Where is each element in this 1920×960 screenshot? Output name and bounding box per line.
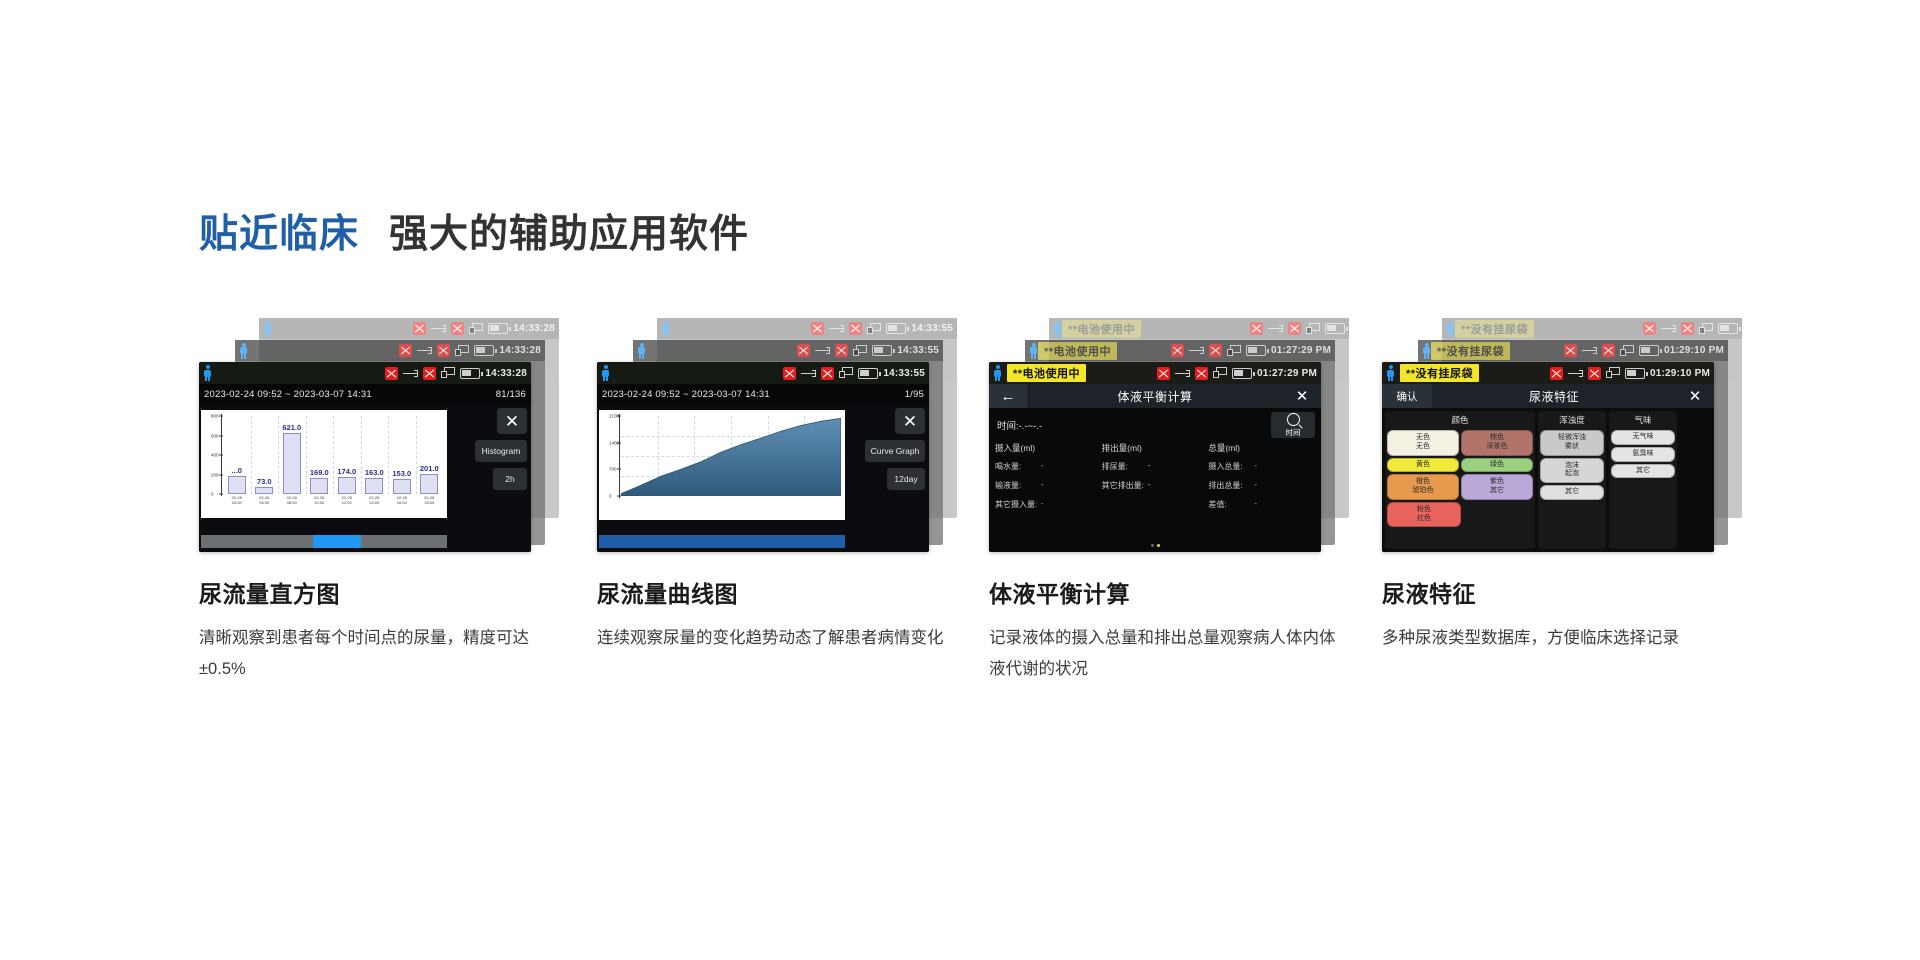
time-field[interactable]: 时间:-.-~-.-	[995, 413, 1271, 437]
host-icon	[853, 345, 867, 357]
grid-line-v	[416, 416, 418, 494]
ghost-statusbar: **电池使用中	[1049, 318, 1349, 339]
card-caption-body: 记录液体的摄入总量和排出总量观察病人体内体液代谢的状况	[989, 623, 1339, 684]
network-off-icon	[783, 367, 796, 380]
y-axis-tick: 400	[211, 453, 219, 458]
device-screen-fluid-balance: **电池使用中 01:27:29 PM ← 体液平	[989, 362, 1321, 552]
battery-banner: **没有挂尿袋	[1400, 364, 1479, 382]
urine-characteristic-group-header: 气味	[1611, 413, 1675, 428]
wifi-off-icon	[1209, 344, 1222, 357]
urine-characteristic-group: 颜色无色无色棕色深茶色黄色绿色橙色琥珀色紫色其它粉色红色	[1385, 411, 1535, 549]
spacer	[1463, 502, 1533, 528]
x-axis-tick: 02-2812:00	[342, 496, 352, 505]
fluid-balance-row[interactable]: 摄入总量:-	[1208, 461, 1315, 472]
usb-icon	[417, 346, 432, 356]
patient-icon	[1386, 365, 1395, 381]
fluid-balance-row[interactable]: 其它排出量:-	[1102, 480, 1209, 491]
card-caption-body: 连续观察尿量的变化趋势动态了解患者病情变化	[597, 623, 947, 654]
x-axis-tick: 02-2814:00	[369, 496, 379, 505]
patient-icon	[1029, 343, 1038, 359]
x-axis-tick: 02-2810:00	[314, 496, 324, 505]
fluid-balance-row-label: 排出总量:	[1208, 480, 1254, 491]
x-axis-tick: 02-2818:00	[424, 496, 434, 505]
urine-characteristic-group-header: 颜色	[1387, 413, 1533, 428]
grid-line-v	[251, 416, 253, 494]
page-dot-active[interactable]	[1157, 544, 1160, 547]
network-off-icon	[1550, 367, 1563, 380]
status-bar: **电池使用中 01:27:29 PM	[989, 362, 1321, 384]
histogram-bar[interactable]	[228, 476, 246, 494]
urine-characteristic-row: 无色无色棕色深茶色	[1387, 430, 1533, 456]
curve-plot-canvas: 210014007000	[599, 410, 845, 520]
date-range-row: 2023-02-24 09:52 ~ 2023-03-07 14:31 81/1…	[199, 384, 531, 404]
host-icon	[441, 367, 455, 379]
fluid-balance-row-value: -	[1041, 461, 1044, 472]
network-off-icon	[811, 322, 824, 335]
page-dot[interactable]	[1151, 544, 1154, 547]
urine-characteristic-row: 其它	[1611, 464, 1675, 479]
battery-icon	[474, 345, 494, 356]
ghost-statusbar: 14:33:28	[235, 340, 545, 361]
histogram-bar[interactable]	[255, 487, 273, 494]
grid-line-v	[306, 416, 308, 494]
battery-icon	[858, 368, 878, 379]
histogram-bar[interactable]	[310, 478, 328, 494]
histogram-plot-canvas: ...002-2804:3073.002-2806:30621.002-2808…	[201, 410, 447, 518]
histogram-bar-label: 73.0	[257, 477, 272, 486]
urine-characteristic-row: 氨臭味	[1611, 447, 1675, 462]
histogram-bar[interactable]	[338, 477, 356, 494]
battery-icon	[1625, 368, 1645, 379]
search-icon	[1287, 413, 1300, 426]
fluid-balance-row-value: -	[1041, 480, 1044, 491]
feature-card-urine-characteristics: **没有挂尿袋 **没有挂尿袋	[1382, 318, 1782, 654]
card-caption-title: 尿流量曲线图	[597, 575, 997, 609]
urine-characteristic-option[interactable]: 棕色深茶色	[1461, 430, 1533, 456]
y-axis-tick-mark	[219, 455, 223, 456]
usb-icon	[1175, 368, 1190, 378]
page-root: 贴近临床强大的辅助应用软件 14:33:28	[0, 0, 1920, 960]
urine-characteristic-row: 轻微浑浊雾状	[1540, 430, 1604, 456]
fluid-balance-row-value: -	[1254, 499, 1257, 510]
urine-characteristic-row: 粉色红色	[1387, 502, 1533, 528]
device-stack: **没有挂尿袋 **没有挂尿袋	[1382, 318, 1742, 553]
battery-icon	[1232, 368, 1252, 379]
status-time: 14:33:28	[485, 368, 527, 379]
x-axis-tick: 02-2804:30	[232, 496, 242, 505]
device-stack: 14:33:55 14:33:55	[597, 318, 957, 553]
histogram-bar-label: 201.0	[420, 464, 439, 473]
usb-icon	[801, 368, 816, 378]
feature-card-fluid-balance: **电池使用中 **电池使用中	[989, 318, 1389, 684]
fluid-balance-column: 摄入量(ml)喝水量:-输液量:-其它摄入量:-	[995, 442, 1102, 518]
y-axis-tick-mark	[219, 474, 223, 475]
host-icon	[1306, 323, 1320, 335]
urine-characteristic-option[interactable]: 其它	[1611, 464, 1675, 479]
fluid-balance-row-value: -	[1254, 480, 1257, 491]
y-axis	[619, 414, 620, 498]
fluid-balance-row-label: 其它摄入量:	[995, 499, 1041, 510]
histogram-bar-label: 621.0	[282, 423, 301, 432]
status-time: 01:29:10 PM	[1664, 345, 1724, 356]
status-time: 01:27:29 PM	[1271, 345, 1331, 356]
app-title: 尿液特征	[1432, 388, 1676, 405]
y-axis-tick: 800	[211, 414, 219, 419]
battery-banner: **电池使用中	[1038, 342, 1117, 360]
urine-characteristic-option[interactable]: 绿色	[1461, 458, 1533, 473]
usb-icon	[1582, 346, 1597, 356]
status-time: 14:33:55	[911, 323, 953, 334]
usb-icon	[815, 346, 830, 356]
y-axis-tick: 600	[211, 433, 219, 438]
battery-banner: **电池使用中	[1062, 320, 1141, 338]
x-axis-tick: 02-2816:00	[397, 496, 407, 505]
chart-side-buttons: ✕ Histogram 2h	[451, 404, 531, 552]
urine-characteristic-group: 浑浊度轻微浑浊雾状泡沫起泡其它	[1538, 411, 1606, 549]
y-axis-tick-mark	[617, 496, 621, 497]
y-axis-tick: 700	[609, 467, 617, 472]
urine-characteristic-row: 无气味	[1611, 430, 1675, 445]
y-axis-tick-mark	[617, 416, 621, 417]
fluid-balance-column-header: 摄入量(ml)	[995, 442, 1102, 454]
x-axis-tick: 02-2808:00	[287, 496, 297, 505]
wifi-off-icon	[423, 367, 436, 380]
histogram-bar[interactable]	[283, 433, 301, 494]
patient-icon	[661, 321, 670, 337]
y-axis-tick-mark	[219, 435, 223, 436]
page-title-rest: 强大的辅助应用软件	[389, 213, 749, 256]
close-button[interactable]: ✕	[1676, 387, 1714, 405]
close-button[interactable]: ✕	[497, 408, 527, 434]
page-dots	[989, 544, 1321, 547]
time-search-button[interactable]: 时间	[1271, 412, 1315, 438]
y-axis-tick: 200	[211, 472, 219, 477]
fluid-balance-grid: 摄入量(ml)喝水量:-输液量:-其它摄入量:-排出量(ml)排尿量:-其它排出…	[995, 442, 1315, 518]
fluid-balance-body: 时间:-.-~-.- 时间 摄入量(ml)喝水量:-输液量:-其它摄入量:-排出…	[989, 408, 1321, 552]
usb-icon	[1268, 324, 1283, 334]
network-off-icon	[797, 344, 810, 357]
device-screen-curve: 14:33:55 2023-02-24 09:52 ~ 2023-03-07 1…	[597, 362, 929, 552]
battery-icon	[886, 323, 906, 334]
fluid-balance-row-label: 喝水量:	[995, 461, 1041, 472]
curve-series	[621, 416, 841, 496]
wifi-off-icon	[1681, 322, 1694, 335]
host-icon	[1606, 367, 1620, 379]
urine-characteristic-option[interactable]: 粉色红色	[1387, 502, 1461, 528]
feature-card-urine-flow-curve: 14:33:55 14:33:55	[597, 318, 997, 654]
timeline-scrollbar[interactable]	[201, 535, 447, 548]
grid-line-v	[278, 416, 280, 494]
urine-characteristic-option[interactable]: 黄色	[1387, 458, 1459, 473]
wifi-off-icon	[451, 322, 464, 335]
time-span-button[interactable]: 2h	[493, 468, 527, 490]
fluid-balance-row-label: 输液量:	[995, 480, 1041, 491]
network-off-icon	[1171, 344, 1184, 357]
histogram-bar[interactable]	[393, 479, 411, 494]
wifi-off-icon	[821, 367, 834, 380]
device-screen-urine-characteristics: **没有挂尿袋 01:29:10 PM 确认 尿液	[1382, 362, 1714, 552]
fluid-balance-row[interactable]: 喝水量:-	[995, 461, 1102, 472]
fluid-balance-column: 排出量(ml)排尿量:-其它排出量:-	[1102, 442, 1209, 518]
status-bar: 14:33:28	[199, 362, 531, 384]
patient-icon	[1446, 321, 1455, 337]
urine-characteristic-option[interactable]: 泡沫起泡	[1540, 458, 1604, 484]
host-icon	[469, 323, 483, 335]
urine-characteristic-option[interactable]: 轻微浑浊雾状	[1540, 430, 1604, 456]
device-stack: **电池使用中 **电池使用中	[989, 318, 1349, 553]
curve-chart-area: 210014007000 ✕ Curve Graph 12day	[597, 404, 929, 552]
patient-icon	[1053, 321, 1062, 337]
fluid-balance-row[interactable]: 输液量:-	[995, 480, 1102, 491]
close-button[interactable]: ✕	[895, 408, 925, 434]
app-bar: ← 体液平衡计算 ✕	[989, 384, 1321, 408]
wifi-off-icon	[1588, 367, 1601, 380]
urine-characteristic-row: 橙色琥珀色紫色其它	[1387, 474, 1533, 500]
fluid-balance-row-value: -	[1148, 480, 1151, 491]
urine-characteristic-option[interactable]: 无色无色	[1387, 430, 1459, 456]
card-caption-body: 多种尿液类型数据库，方便临床选择记录	[1382, 623, 1732, 654]
wifi-off-icon	[1602, 344, 1615, 357]
grid-line-v	[333, 416, 335, 494]
network-off-icon	[1564, 344, 1577, 357]
urine-characteristic-option[interactable]: 其它	[1540, 485, 1604, 500]
chart-side-buttons: ✕ Curve Graph 12day	[849, 404, 929, 552]
ghost-statusbar: 14:33:55	[633, 340, 943, 361]
histogram-bar-label: 153.0	[392, 469, 411, 478]
fluid-balance-row[interactable]: 差值:-	[1208, 499, 1315, 510]
usb-icon	[1661, 324, 1676, 334]
usb-icon	[403, 368, 418, 378]
network-off-icon	[385, 367, 398, 380]
y-axis-tick: 0	[609, 494, 612, 499]
battery-icon	[1246, 345, 1266, 356]
fluid-balance-row-value: -	[1254, 461, 1257, 472]
wifi-off-icon	[437, 344, 450, 357]
wifi-off-icon	[835, 344, 848, 357]
y-axis-tick-mark	[219, 416, 223, 417]
battery-icon	[1325, 323, 1345, 334]
histogram-bar[interactable]	[365, 478, 383, 494]
x-axis-tick: 02-2806:30	[259, 496, 269, 505]
histogram-bar-label: 169.0	[310, 468, 329, 477]
date-range-label: 2023-02-24 09:52 ~ 2023-03-07 14:31	[602, 389, 770, 400]
network-off-icon	[1643, 322, 1656, 335]
battery-icon	[460, 368, 480, 379]
host-icon	[867, 323, 881, 335]
ghost-statusbar: **没有挂尿袋	[1442, 318, 1742, 339]
wifi-off-icon	[1195, 367, 1208, 380]
battery-icon	[872, 345, 892, 356]
ghost-statusbar: **没有挂尿袋 01:29:10 PM	[1418, 340, 1728, 361]
usb-icon	[1189, 346, 1204, 356]
patient-icon	[1422, 343, 1431, 359]
time-filter-row: 时间:-.-~-.- 时间	[995, 412, 1315, 438]
battery-icon	[1718, 323, 1738, 334]
patient-icon	[263, 321, 272, 337]
battery-icon	[1639, 345, 1659, 356]
device-stack: 14:33:28 14:33:28	[199, 318, 559, 553]
histogram-bar-label: 174.0	[337, 467, 356, 476]
app-bar: 确认 尿液特征 ✕	[1382, 384, 1714, 408]
curve-mode-button[interactable]: Curve Graph	[865, 440, 925, 462]
urine-characteristic-group-header: 浑浊度	[1540, 413, 1604, 428]
usb-icon	[829, 324, 844, 334]
host-icon	[839, 367, 853, 379]
host-icon	[1620, 345, 1634, 357]
host-icon	[1213, 367, 1227, 379]
host-icon	[1699, 323, 1713, 335]
urine-characteristic-option[interactable]: 氨臭味	[1611, 447, 1675, 462]
wifi-off-icon	[1288, 322, 1301, 335]
usb-icon	[431, 324, 446, 334]
fluid-balance-row-label: 摄入总量:	[1208, 461, 1254, 472]
network-off-icon	[399, 344, 412, 357]
status-time: 01:29:10 PM	[1650, 368, 1710, 379]
fluid-balance-row-value: -	[1041, 499, 1044, 510]
urine-characteristic-row: 其它	[1540, 485, 1604, 500]
histogram-plot: ...002-2804:3073.002-2806:30621.002-2808…	[223, 416, 443, 494]
urine-characteristic-option[interactable]: 橙色琥珀色	[1387, 474, 1459, 500]
histogram-bar[interactable]	[420, 474, 438, 494]
histogram-mode-button[interactable]: Histogram	[475, 440, 527, 462]
urine-characteristic-option[interactable]: 紫色其它	[1461, 474, 1533, 500]
card-caption-title: 尿液特征	[1382, 575, 1782, 609]
patient-icon	[993, 365, 1002, 381]
urine-characteristic-row: 黄色绿色	[1387, 458, 1533, 473]
card-caption-title: 体液平衡计算	[989, 575, 1389, 609]
urine-characteristic-option[interactable]: 无气味	[1611, 430, 1675, 445]
close-button[interactable]: ✕	[1283, 387, 1321, 405]
network-off-icon	[1157, 367, 1170, 380]
grid-line-v	[361, 416, 363, 494]
fluid-balance-column-header: 总量(ml)	[1208, 442, 1315, 454]
host-icon	[455, 345, 469, 357]
status-time: 01:27:29 PM	[1257, 368, 1317, 379]
network-off-icon	[1250, 322, 1263, 335]
y-axis-tick-mark	[617, 442, 621, 443]
battery-banner: **没有挂尿袋	[1431, 342, 1510, 360]
histogram-bar-label: 163.0	[365, 468, 384, 477]
fluid-balance-row[interactable]: 排尿量:-	[1102, 461, 1209, 472]
network-off-icon	[413, 322, 426, 335]
patient-icon	[601, 365, 610, 381]
urine-characteristic-row: 泡沫起泡	[1540, 458, 1604, 484]
fluid-balance-row-label: 其它排出量:	[1102, 480, 1148, 491]
page-title: 贴近临床强大的辅助应用软件	[199, 203, 749, 259]
confirm-button[interactable]: 确认	[1382, 384, 1432, 408]
battery-icon	[488, 323, 508, 334]
battery-banner: **电池使用中	[1007, 364, 1086, 382]
status-time: 14:33:55	[897, 345, 939, 356]
histogram-bar-label: ...0	[232, 466, 242, 475]
status-time: 14:33:28	[499, 345, 541, 356]
urine-characteristics-body: 颜色无色无色棕色深茶色黄色绿色橙色琥珀色紫色其它粉色红色浑浊度轻微浑浊雾状泡沫起…	[1382, 408, 1714, 552]
time-search-label: 时间	[1286, 427, 1301, 438]
grid-line-v	[388, 416, 390, 494]
date-range-row: 2023-02-24 09:52 ~ 2023-03-07 14:31 1/95	[597, 384, 929, 404]
timeline-scrollbar[interactable]	[599, 535, 845, 548]
card-caption-body: 清晰观察到患者每个时间点的尿量，精度可达±0.5%	[199, 623, 549, 684]
wifi-off-icon	[849, 322, 862, 335]
battery-banner: **没有挂尿袋	[1455, 320, 1534, 338]
status-bar: **没有挂尿袋 01:29:10 PM	[1382, 362, 1714, 384]
fluid-balance-row-label: 排尿量:	[1102, 461, 1148, 472]
ghost-statusbar: 14:33:55	[657, 318, 957, 339]
fluid-balance-column: 总量(ml)摄入总量:-排出总量:-差值:-	[1208, 442, 1315, 518]
page-indicator: 81/136	[496, 389, 526, 400]
y-axis-tick: 0	[211, 492, 214, 497]
card-caption-title: 尿流量直方图	[199, 575, 599, 609]
urine-characteristic-group: 气味无气味氨臭味其它	[1609, 411, 1677, 549]
status-bar: 14:33:55	[597, 362, 929, 384]
time-span-button[interactable]: 12day	[887, 468, 925, 490]
fluid-balance-row-label: 差值:	[1208, 499, 1254, 510]
status-time: 14:33:28	[513, 323, 555, 334]
host-icon	[1227, 345, 1241, 357]
fluid-balance-column-header: 排出量(ml)	[1102, 442, 1209, 454]
timeline-scroll-thumb[interactable]	[313, 535, 361, 548]
page-title-highlight: 贴近临床	[199, 213, 359, 256]
usb-icon	[1568, 368, 1583, 378]
fluid-balance-row[interactable]: 排出总量:-	[1208, 480, 1315, 491]
back-button[interactable]: ←	[989, 384, 1027, 408]
feature-card-urine-flow-histogram: 14:33:28 14:33:28	[199, 318, 599, 684]
y-axis-tick-mark	[219, 494, 223, 495]
patient-icon	[203, 365, 212, 381]
app-title: 体液平衡计算	[1027, 388, 1283, 405]
fluid-balance-row-value: -	[1148, 461, 1151, 472]
histogram-chart-area: ...002-2804:3073.002-2806:30621.002-2808…	[199, 404, 531, 552]
status-time: 14:33:55	[883, 368, 925, 379]
patient-icon	[637, 343, 646, 359]
patient-icon	[239, 343, 248, 359]
fluid-balance-row[interactable]: 其它摄入量:-	[995, 499, 1102, 510]
feature-cards: 14:33:28 14:33:28	[0, 318, 1920, 798]
y-axis-tick-mark	[617, 469, 621, 470]
device-screen-histogram: 14:33:28 2023-02-24 09:52 ~ 2023-03-07 1…	[199, 362, 531, 552]
curve-plot	[621, 416, 841, 496]
ghost-statusbar: 14:33:28	[259, 318, 559, 339]
page-indicator: 1/95	[905, 389, 924, 400]
ghost-statusbar: **电池使用中 01:27:29 PM	[1025, 340, 1335, 361]
date-range-label: 2023-02-24 09:52 ~ 2023-03-07 14:31	[204, 389, 372, 400]
